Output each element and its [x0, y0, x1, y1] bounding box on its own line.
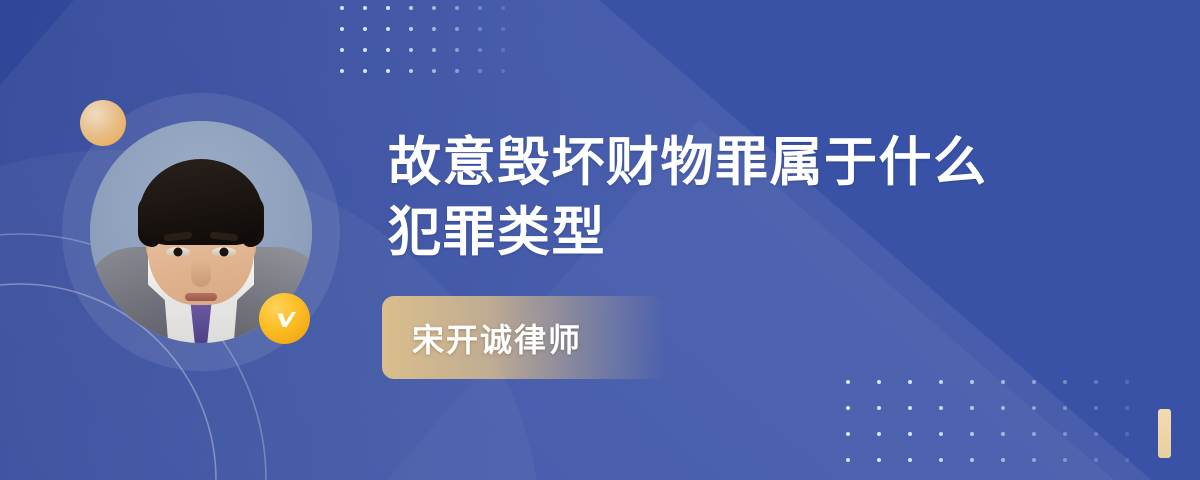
- gold-accent-bar: [1158, 409, 1171, 458]
- lawyer-qa-banner: 故意毁坏财物罪属于什么 犯罪类型 宋开诚律师: [0, 0, 1200, 480]
- avatar: [56, 85, 346, 385]
- lawyer-name-badge: 宋开诚律师: [382, 296, 666, 379]
- lawyer-name-label: 宋开诚律师: [412, 315, 582, 361]
- verified-v-icon: [259, 293, 310, 344]
- page-title: 故意毁坏财物罪属于什么 犯罪类型: [388, 128, 1088, 268]
